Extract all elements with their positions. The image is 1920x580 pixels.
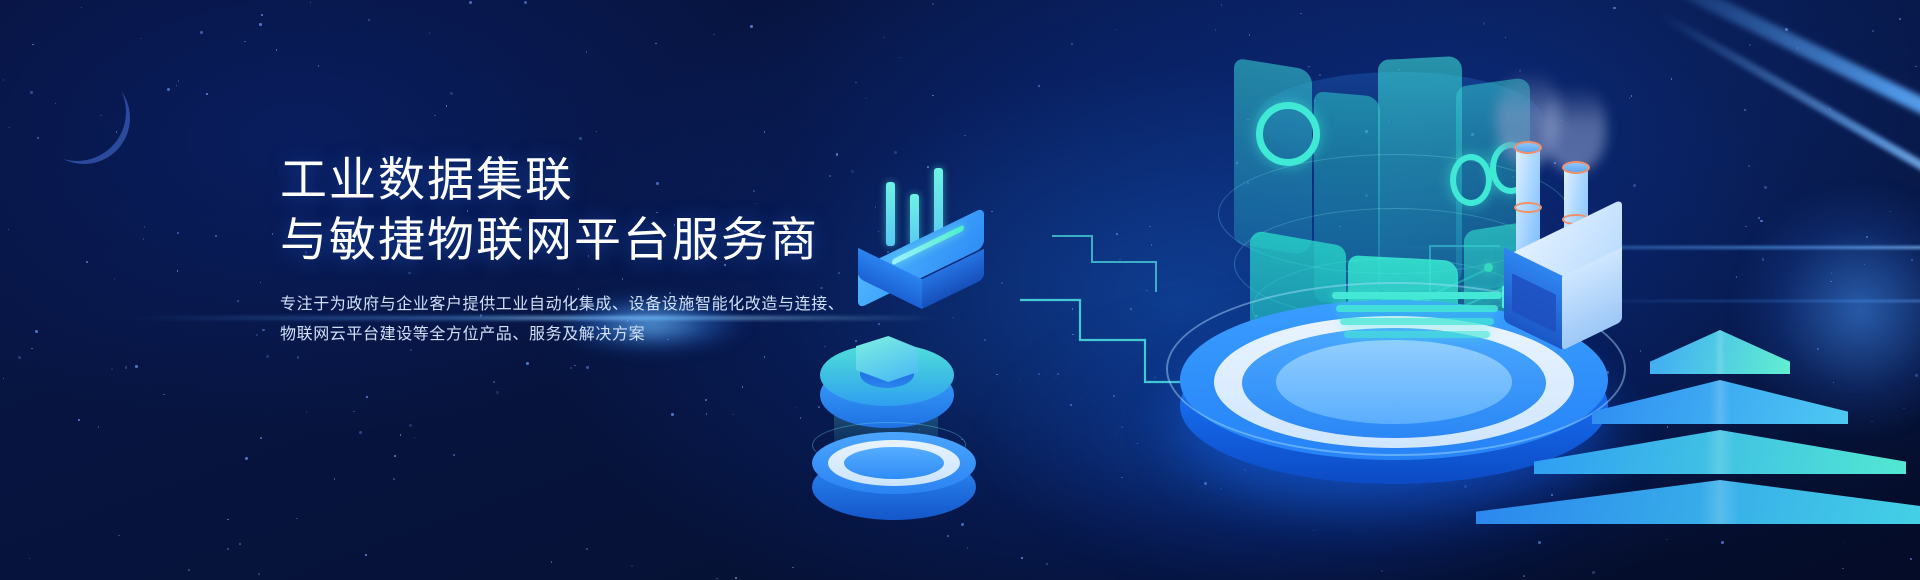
layered-pyramid-icon (1580, 330, 1860, 580)
hero-illustration (960, 0, 1920, 580)
router-device-icon (840, 176, 1010, 306)
hero-subcopy: 专注于为政府与企业客户提供工业自动化集成、设备设施智能化改造与连接、 物联网云平… (280, 290, 820, 349)
pyramid-tier-seam (1534, 430, 1906, 474)
pyramid-tier-seam (1592, 380, 1848, 424)
pyramid-tier-seam (1650, 330, 1790, 374)
hero-banner: 工业数据集联 与敏捷物联网平台服务商 专注于为政府与企业客户提供工业自动化集成、… (0, 0, 1920, 580)
ring-icon (1256, 102, 1320, 166)
subcopy-line-1: 专注于为政府与企业客户提供工业自动化集成、设备设施智能化改造与连接、 (280, 290, 820, 320)
smoke-plume-icon (1542, 86, 1606, 172)
circular-pad (812, 432, 976, 524)
disc-stripes (1332, 292, 1502, 350)
crescent-planet-icon (38, 72, 130, 164)
factory-icon (1480, 76, 1690, 336)
pad-center (844, 447, 944, 479)
subcopy-line-2: 物联网云平台建设等全方位产品、服务及解决方案 (280, 320, 820, 350)
